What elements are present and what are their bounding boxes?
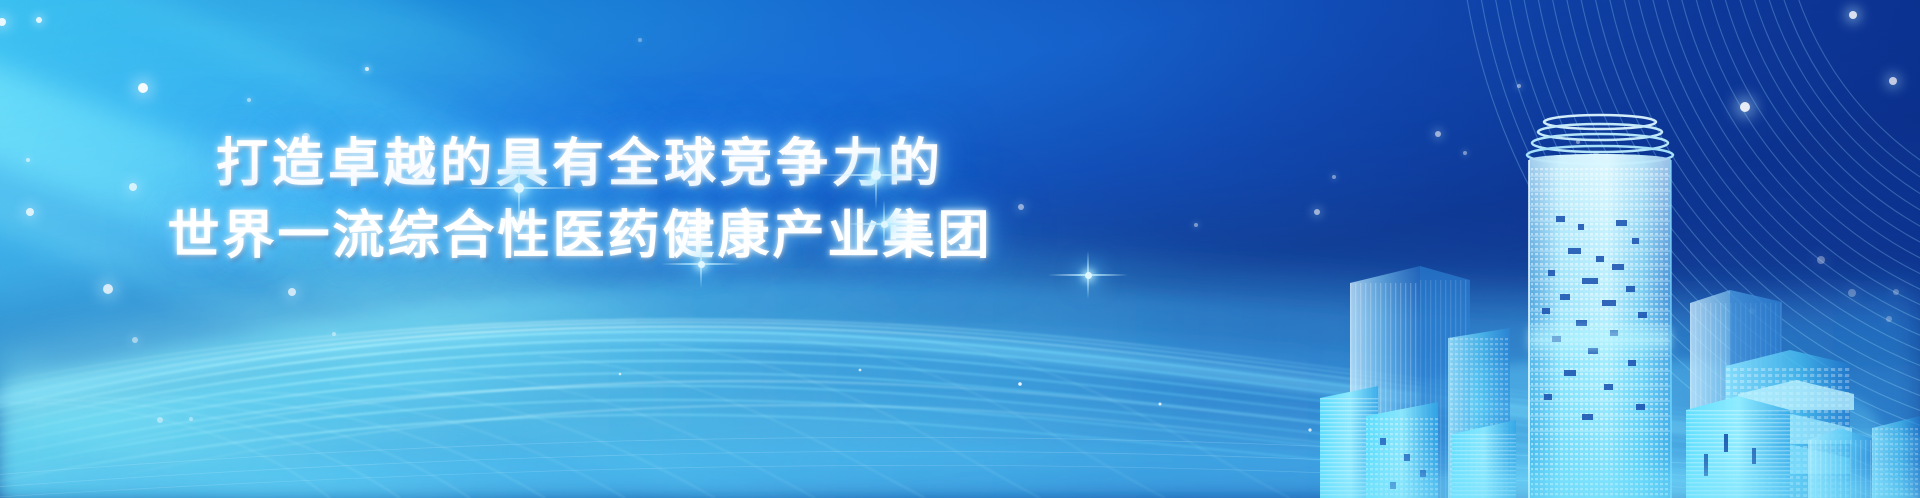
hero-banner: 打造卓越的具有全球竞争力的 世界一流综合性医药健康产业集团: [0, 0, 1920, 498]
flare-ray-horizontal: [844, 223, 924, 225]
flare-ray-vertical: [700, 240, 702, 288]
lens-flare-layer: [0, 0, 1920, 498]
flare-ray-horizontal: [459, 187, 579, 189]
flare-ray-vertical: [518, 153, 520, 223]
flare-core: [881, 221, 888, 228]
flare-core: [698, 261, 705, 268]
flare-core: [871, 170, 881, 180]
flare-ray-horizontal: [1048, 274, 1128, 276]
flare-core: [1085, 272, 1092, 279]
flare-ray-horizontal: [661, 263, 741, 265]
flare-ray-vertical: [875, 140, 877, 210]
flare-ray-horizontal: [816, 174, 936, 176]
flare-core: [514, 183, 524, 193]
flare-ray-vertical: [883, 200, 885, 248]
flare-ray-vertical: [1087, 251, 1089, 299]
